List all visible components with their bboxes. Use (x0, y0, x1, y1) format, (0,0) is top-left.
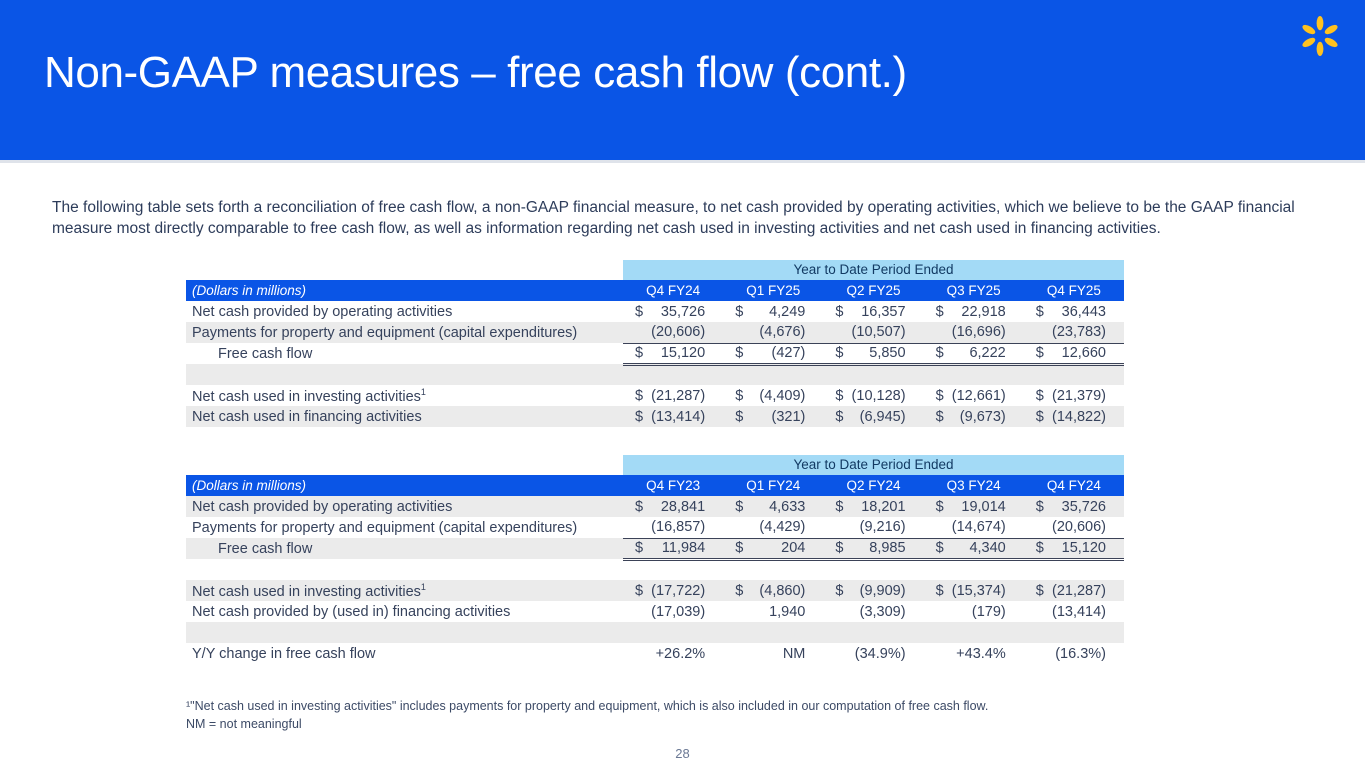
cell-value: $204 (723, 538, 823, 559)
cell-value: $(21,287) (1024, 580, 1124, 601)
row-label: Net cash provided by operating activitie… (186, 496, 623, 517)
row-label: Net cash used in financing activities (186, 406, 623, 427)
cell-value: $8,985 (823, 538, 923, 559)
cell-value: $(21,379) (1024, 385, 1124, 406)
cell-value: (4,429) (723, 517, 823, 538)
cell-value: $18,201 (823, 496, 923, 517)
cell-value: $5,850 (823, 343, 923, 364)
spacer-cell (623, 364, 723, 385)
table-spacer-row (186, 559, 1124, 580)
footnote-2: NM = not meaningful (186, 716, 302, 733)
cell-value: NM (723, 643, 823, 664)
spacer-cell (924, 559, 1024, 580)
spacer-cell (623, 622, 723, 643)
col-header-2: Q2 FY25 (823, 280, 923, 301)
units-label: (Dollars in millions) (186, 475, 623, 496)
cell-value: $4,340 (924, 538, 1024, 559)
cell-value: $(17,722) (623, 580, 723, 601)
banner-divider (0, 160, 1365, 163)
table-row-yoy: Y/Y change in free cash flow +26.2% NM (… (186, 643, 1124, 664)
cell-value: $35,726 (623, 301, 723, 322)
table-row-total: Free cash flow $15,120 $(427) $5,850 $6,… (186, 343, 1124, 364)
cell-value: (14,674) (924, 517, 1024, 538)
spacer-cell (186, 364, 623, 385)
cell-value: $12,660 (1024, 343, 1124, 364)
cell-value: +43.4% (924, 643, 1024, 664)
spacer-cell (186, 559, 623, 580)
col-header-4: Q4 FY25 (1024, 280, 1124, 301)
spacer-cell (924, 622, 1024, 643)
units-label: (Dollars in millions) (186, 280, 623, 301)
cell-value: $15,120 (1024, 538, 1124, 559)
table1-header-row: (Dollars in millions) Q4 FY24 Q1 FY25 Q2… (186, 280, 1124, 301)
col-header-2: Q2 FY24 (823, 475, 923, 496)
col-header-1: Q1 FY25 (723, 280, 823, 301)
row-label: Free cash flow (186, 343, 623, 364)
cell-value: $(4,860) (723, 580, 823, 601)
row-label: Net cash provided by (used in) financing… (186, 601, 623, 622)
spacer-cell (823, 622, 923, 643)
cell-value: (3,309) (823, 601, 923, 622)
band-title: Year to Date Period Ended (623, 260, 1124, 280)
table-row-total: Free cash flow $11,984 $204 $8,985 $4,34… (186, 538, 1124, 559)
spacer-cell (1024, 364, 1124, 385)
row-label: Y/Y change in free cash flow (186, 643, 623, 664)
table-row: Payments for property and equipment (cap… (186, 322, 1124, 343)
band-spacer (186, 260, 623, 280)
page-number: 28 (0, 746, 1365, 761)
cell-value: $(15,374) (924, 580, 1024, 601)
table-row: Net cash provided by operating activitie… (186, 301, 1124, 322)
band-spacer (186, 455, 623, 475)
cell-value: (179) (924, 601, 1024, 622)
cell-value: (23,783) (1024, 322, 1124, 343)
cell-value: (9,216) (823, 517, 923, 538)
table1-band-row: Year to Date Period Ended (186, 260, 1124, 280)
slide-header-banner: Non-GAAP measures – free cash flow (cont… (0, 0, 1365, 160)
cell-value: (17,039) (623, 601, 723, 622)
cell-value: $(21,287) (623, 385, 723, 406)
cell-value: (13,414) (1024, 601, 1124, 622)
cell-value: $4,249 (723, 301, 823, 322)
table-row: Payments for property and equipment (cap… (186, 517, 1124, 538)
page-title: Non-GAAP measures – free cash flow (cont… (44, 48, 907, 98)
cell-value: $(9,673) (924, 406, 1024, 427)
band-title: Year to Date Period Ended (623, 455, 1124, 475)
table2-header-row: (Dollars in millions) Q4 FY23 Q1 FY24 Q2… (186, 475, 1124, 496)
table-spacer-row (186, 622, 1124, 643)
row-label: Free cash flow (186, 538, 623, 559)
col-header-3: Q3 FY24 (924, 475, 1024, 496)
footnote-1: ¹"Net cash used in investing activities"… (186, 698, 988, 715)
cell-value: +26.2% (623, 643, 723, 664)
fcf-table-fy24: Year to Date Period Ended (Dollars in mi… (186, 455, 1124, 664)
table-row: Net cash provided by (used in) financing… (186, 601, 1124, 622)
spacer-cell (823, 364, 923, 385)
spacer-cell (924, 364, 1024, 385)
cell-value: $22,918 (924, 301, 1024, 322)
cell-value: $(12,661) (924, 385, 1024, 406)
cell-value: $(4,409) (723, 385, 823, 406)
spacer-cell (1024, 622, 1124, 643)
row-label: Payments for property and equipment (cap… (186, 322, 623, 343)
footnote-marker: 1 (421, 582, 426, 592)
cell-value: $(9,909) (823, 580, 923, 601)
col-header-0: Q4 FY23 (623, 475, 723, 496)
row-label: Payments for property and equipment (cap… (186, 517, 623, 538)
spacer-cell (623, 559, 723, 580)
walmart-spark-icon (1297, 13, 1343, 59)
table-row: Net cash used in investing activities1 $… (186, 580, 1124, 601)
cell-value: (10,507) (823, 322, 923, 343)
cell-value: $28,841 (623, 496, 723, 517)
slide: Non-GAAP measures – free cash flow (cont… (0, 0, 1365, 768)
spacer-cell (723, 364, 823, 385)
table2-band-row: Year to Date Period Ended (186, 455, 1124, 475)
spacer-cell (723, 622, 823, 643)
cell-value: (4,676) (723, 322, 823, 343)
row-label: Net cash used in investing activities1 (186, 385, 623, 406)
row-label: Net cash provided by operating activitie… (186, 301, 623, 322)
spacer-cell (186, 622, 623, 643)
cell-value: 1,940 (723, 601, 823, 622)
col-header-4: Q4 FY24 (1024, 475, 1124, 496)
cell-value: (16,696) (924, 322, 1024, 343)
footnote-marker: 1 (421, 387, 426, 397)
cell-value: $16,357 (823, 301, 923, 322)
spacer-cell (723, 559, 823, 580)
table-spacer-row (186, 364, 1124, 385)
cell-value: $36,443 (1024, 301, 1124, 322)
spacer-cell (1024, 559, 1124, 580)
cell-value: $(13,414) (623, 406, 723, 427)
cell-value: $15,120 (623, 343, 723, 364)
cell-value: $(6,945) (823, 406, 923, 427)
intro-paragraph: The following table sets forth a reconci… (52, 197, 1314, 239)
fcf-table-fy25: Year to Date Period Ended (Dollars in mi… (186, 260, 1124, 427)
cell-value: (20,606) (1024, 517, 1124, 538)
col-header-0: Q4 FY24 (623, 280, 723, 301)
cell-value: $(10,128) (823, 385, 923, 406)
table-row: Net cash used in financing activities $(… (186, 406, 1124, 427)
col-header-3: Q3 FY25 (924, 280, 1024, 301)
cell-value: (16,857) (623, 517, 723, 538)
cell-value: (34.9%) (823, 643, 923, 664)
cell-value: $(14,822) (1024, 406, 1124, 427)
row-label: Net cash used in investing activities1 (186, 580, 623, 601)
cell-value: $11,984 (623, 538, 723, 559)
table-row: Net cash used in investing activities1 $… (186, 385, 1124, 406)
table-row: Net cash provided by operating activitie… (186, 496, 1124, 517)
cell-value: $(427) (723, 343, 823, 364)
col-header-1: Q1 FY24 (723, 475, 823, 496)
cell-value: $35,726 (1024, 496, 1124, 517)
cell-value: $19,014 (924, 496, 1024, 517)
cell-value: $(321) (723, 406, 823, 427)
cell-value: $4,633 (723, 496, 823, 517)
cell-value: $6,222 (924, 343, 1024, 364)
cell-value: (16.3%) (1024, 643, 1124, 664)
spacer-cell (823, 559, 923, 580)
cell-value: (20,606) (623, 322, 723, 343)
